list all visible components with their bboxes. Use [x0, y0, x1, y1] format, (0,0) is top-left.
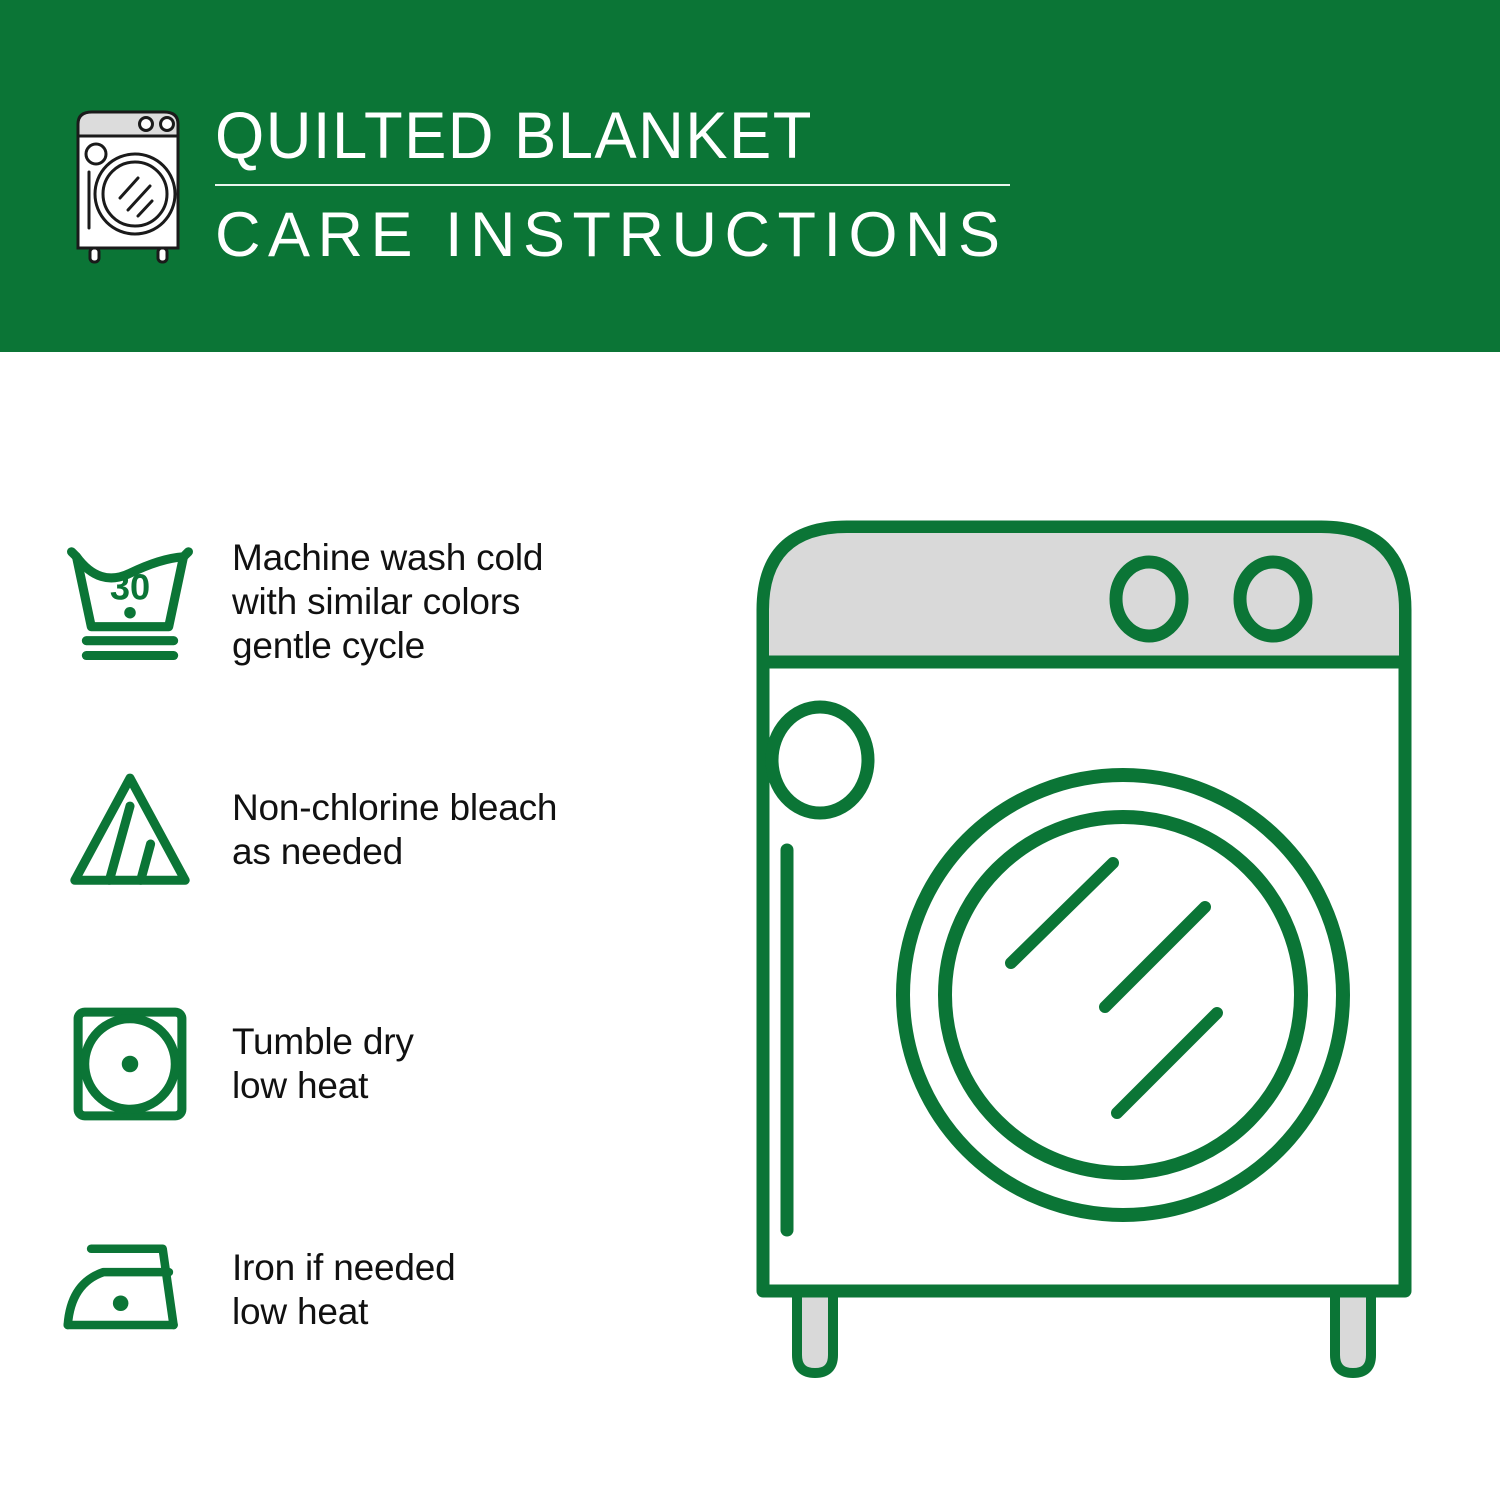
- care-line: low heat: [232, 1290, 455, 1334]
- care-line: low heat: [232, 1064, 414, 1108]
- care-row-bleach: Non-chlorine bleach as needed: [0, 730, 740, 930]
- care-line: gentle cycle: [232, 624, 543, 668]
- care-row-tumble-dry: Tumble dry low heat: [0, 964, 740, 1164]
- wash-temp-label: 30: [110, 567, 150, 608]
- care-text-iron: Iron if needed low heat: [200, 1246, 455, 1334]
- care-instruction-list: 30 Machine wash cold with similar colors…: [0, 352, 740, 1500]
- care-line: Tumble dry: [232, 1020, 414, 1064]
- washing-machine-logo-icon: [68, 106, 196, 264]
- wash-tub-30-icon: 30: [0, 517, 200, 687]
- care-text-bleach: Non-chlorine bleach as needed: [200, 786, 557, 874]
- care-line: Non-chlorine bleach: [232, 786, 557, 830]
- front-load-washing-machine-illustration: [735, 495, 1465, 1425]
- care-line: Machine wash cold: [232, 536, 543, 580]
- title-divider: [215, 184, 1010, 186]
- care-line: Iron if needed: [232, 1246, 455, 1290]
- care-line: with similar colors: [232, 580, 543, 624]
- tumble-dry-low-icon: [0, 979, 200, 1149]
- page-subtitle: CARE INSTRUCTIONS: [215, 200, 1035, 270]
- non-chlorine-bleach-triangle-icon: [0, 745, 200, 915]
- care-row-iron: Iron if needed low heat: [0, 1190, 740, 1390]
- care-line: as needed: [232, 830, 557, 874]
- iron-low-heat-icon: [0, 1205, 200, 1375]
- header-banner: QUILTED BLANKET CARE INSTRUCTIONS: [0, 0, 1500, 352]
- header-title-block: QUILTED BLANKET CARE INSTRUCTIONS: [215, 98, 1035, 270]
- page-title: QUILTED BLANKET: [215, 98, 1002, 172]
- machine-legs: [797, 1290, 1371, 1373]
- care-text-tumble-dry: Tumble dry low heat: [200, 1020, 414, 1108]
- care-text-machine-wash: Machine wash cold with similar colors ge…: [200, 536, 543, 668]
- care-row-machine-wash: 30 Machine wash cold with similar colors…: [0, 502, 740, 702]
